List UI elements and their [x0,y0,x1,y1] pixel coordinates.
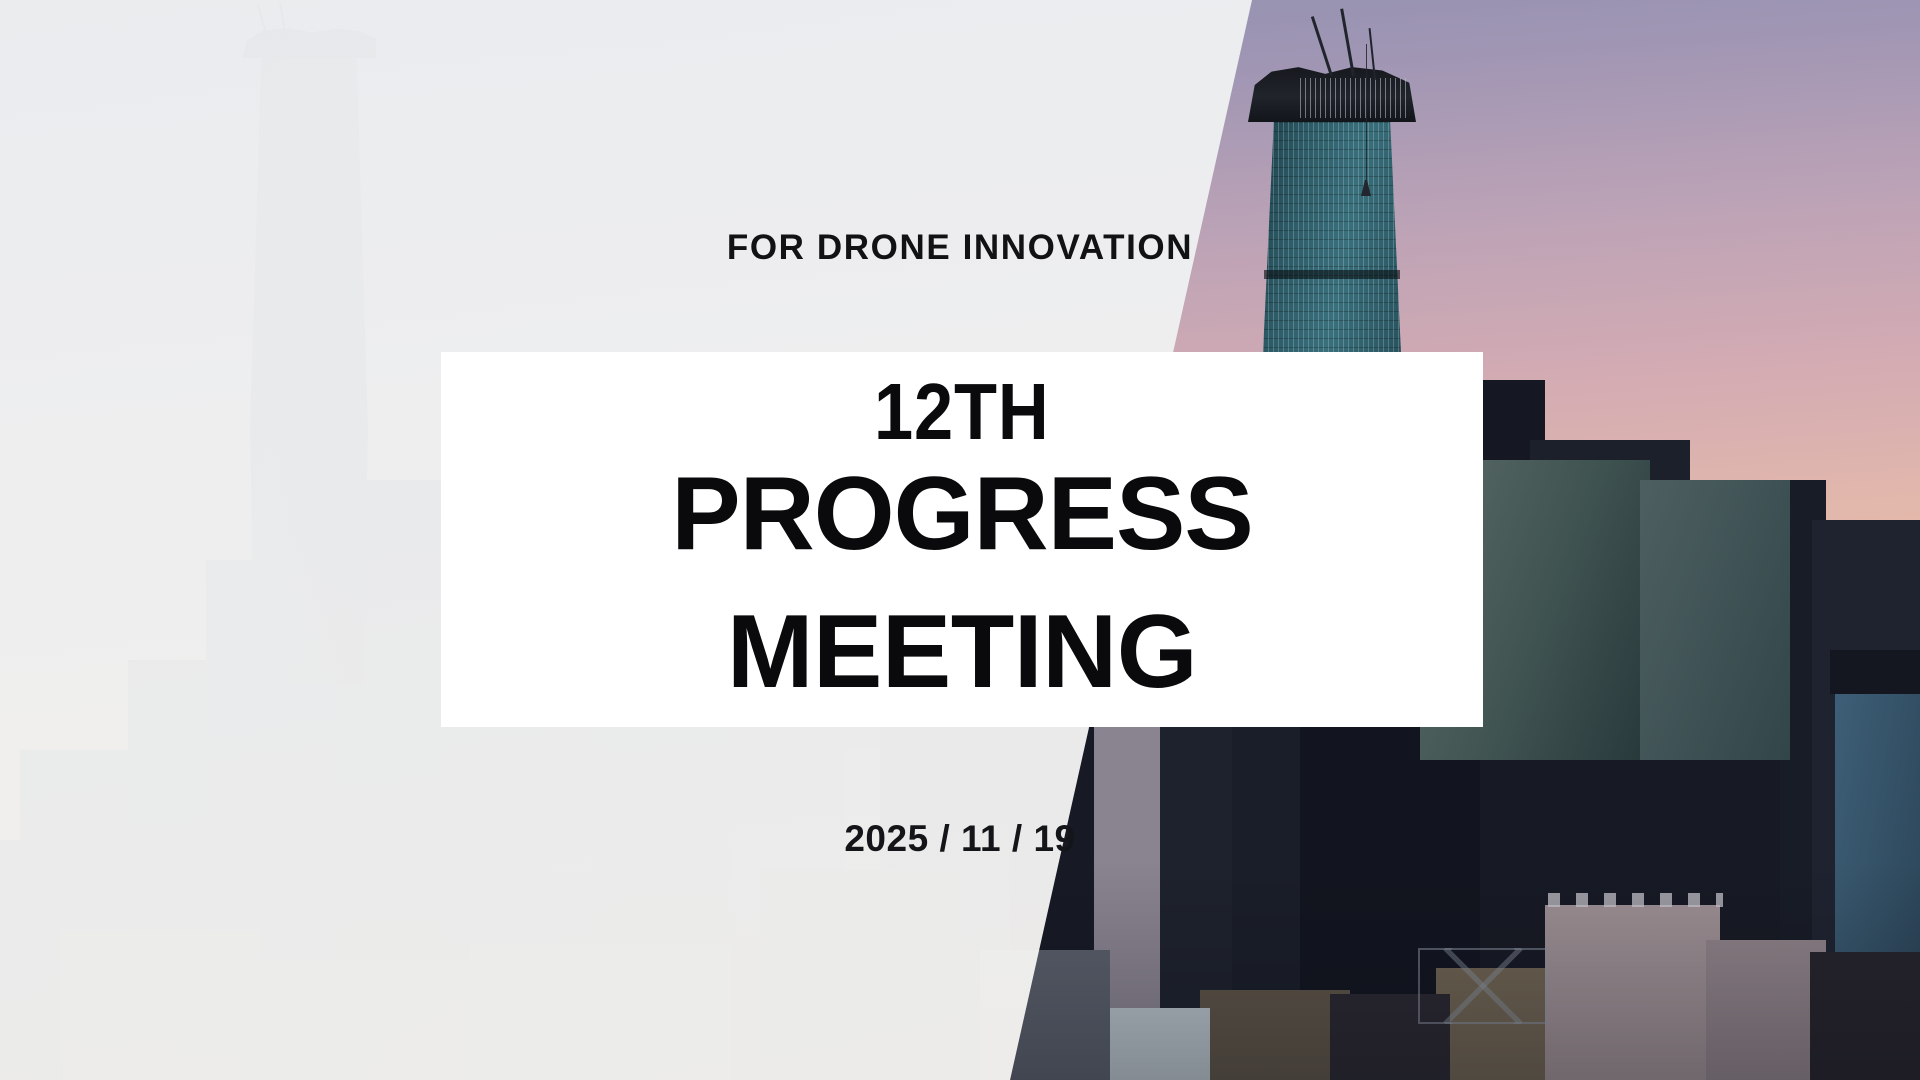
building-glass-midrise-2 [1640,480,1790,760]
title-line-meeting: MEETING [727,596,1197,708]
poster-canvas: FOR DRONE INNOVATION 12TH PROGRESS MEETI… [0,0,1920,1080]
building-blue-tower-cap [1830,650,1920,694]
citic-crane-mast-2 [1340,9,1355,76]
citic-tower-belt-1 [1264,270,1400,279]
poster-subtitle: FOR DRONE INNOVATION [0,228,1920,268]
title-line-progress: PROGRESS [671,458,1252,570]
title-ordinal: 12TH [874,372,1050,452]
citic-crane-mast-1 [1311,16,1333,76]
poster-date: 2025 / 11 / 19 [0,818,1920,860]
citic-crane-cable [1366,44,1367,184]
title-card: 12TH PROGRESS MEETING [441,352,1483,727]
citic-tower-crown-ribs [1300,78,1408,118]
